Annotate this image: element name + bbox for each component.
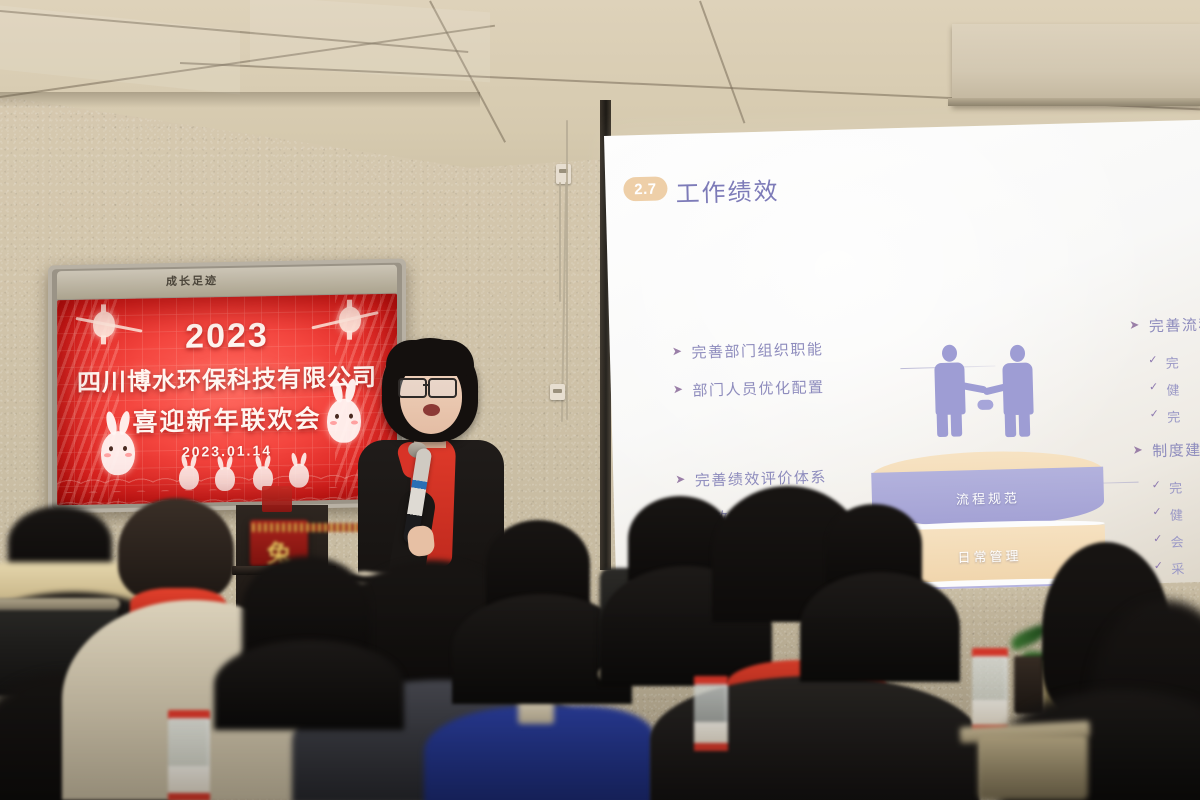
water-bottle[interactable]: [168, 710, 210, 800]
bullet-text: 完善流程: [1149, 314, 1200, 337]
slide-subbullet: ✓ 健: [1149, 376, 1200, 399]
bottle-label: [694, 722, 728, 744]
presenter-mouth: [423, 404, 440, 416]
check-icon: ✓: [1151, 478, 1162, 491]
projector-screen-lip: [948, 98, 1200, 106]
businessman-right-icon: [998, 344, 1041, 461]
projector-screen-housing: [952, 24, 1200, 106]
glasses-bridge: [423, 384, 430, 386]
bottle-body: [168, 718, 210, 800]
audience-shoulders: [214, 640, 404, 730]
slide-subbullet: ✓ 健: [1152, 501, 1200, 524]
presenter-glasses: [398, 378, 427, 398]
slide-number-badge: 2.7: [623, 176, 668, 201]
presenter-hair-fringe: [386, 340, 474, 376]
hanging-cable: [566, 120, 568, 420]
bottle-label: [168, 766, 210, 794]
subbullet-text: 完: [1165, 353, 1180, 372]
bottle-label: [972, 700, 1008, 726]
check-icon: ✓: [1150, 407, 1161, 420]
businessman-left-icon: [930, 344, 973, 461]
presenter-glasses: [428, 378, 457, 398]
wall-outlet[interactable]: [556, 164, 571, 184]
bullet-arrow-icon: ➤: [1129, 316, 1141, 334]
check-icon: ✓: [1154, 559, 1165, 572]
check-icon: ✓: [1152, 505, 1163, 518]
subbullet-text: 采: [1171, 558, 1186, 577]
slide-title: 工作绩效: [675, 171, 780, 209]
bullet-text: 部门人员优化配置: [692, 376, 825, 401]
slide-subbullet: ✓ 会: [1153, 528, 1200, 551]
slide-bullet: ➤ 制度建: [1132, 436, 1200, 462]
red-envelope-decoration: [262, 486, 292, 512]
chair-frame: [0, 598, 120, 610]
handshake-icon: [977, 400, 993, 410]
subbullet-text: 健: [1166, 379, 1181, 398]
wall-outlet[interactable]: [550, 384, 565, 400]
wall-sign-label: 成长足迹: [166, 272, 218, 289]
slide-subbullet: ✓ 完: [1150, 403, 1200, 426]
check-icon: ✓: [1148, 353, 1159, 366]
wall-beam-shadow: [0, 92, 480, 108]
bullet-text: 完善绩效评价体系: [695, 466, 828, 491]
slide-subbullet: ✓ 完: [1151, 474, 1200, 497]
hanging-cable: [559, 182, 561, 302]
presenter-hand: [407, 525, 436, 558]
chair-frame: [978, 734, 1088, 800]
subbullet-text: 完: [1169, 477, 1184, 496]
bullet-text: 完善部门组织职能: [691, 338, 824, 363]
slide-subbullet: ✓ 完: [1148, 349, 1200, 372]
bullet-arrow-icon: ➤: [673, 380, 685, 398]
bottle-body: [694, 684, 728, 750]
water-bottle[interactable]: [972, 648, 1008, 732]
conference-room-scene: 2.7 工作绩效 ➤ 完善部门组织职能 ➤ 部门人员优化配置 ➤ 完善绩效评价体…: [0, 0, 1200, 800]
slide-bullet: ➤ 完善流程: [1129, 311, 1200, 337]
subbullet-text: 健: [1170, 504, 1185, 523]
subbullet-text: 会: [1170, 531, 1185, 550]
bullet-text: 制度建: [1152, 439, 1200, 461]
audience-head: [118, 498, 234, 602]
slide-subbullet: ✓ 采: [1154, 555, 1200, 578]
bottle-body: [972, 656, 1008, 732]
bullet-arrow-icon: ➤: [672, 342, 684, 360]
bullet-arrow-icon: ➤: [1132, 441, 1144, 459]
bullet-arrow-icon: ➤: [675, 470, 687, 488]
check-icon: ✓: [1153, 532, 1164, 545]
audience-shoulders: [800, 572, 960, 682]
cylinder-layer-label: 流程规范: [872, 485, 1104, 510]
water-bottle[interactable]: [694, 676, 728, 750]
subbullet-text: 完: [1167, 406, 1182, 425]
check-icon: ✓: [1149, 380, 1160, 393]
